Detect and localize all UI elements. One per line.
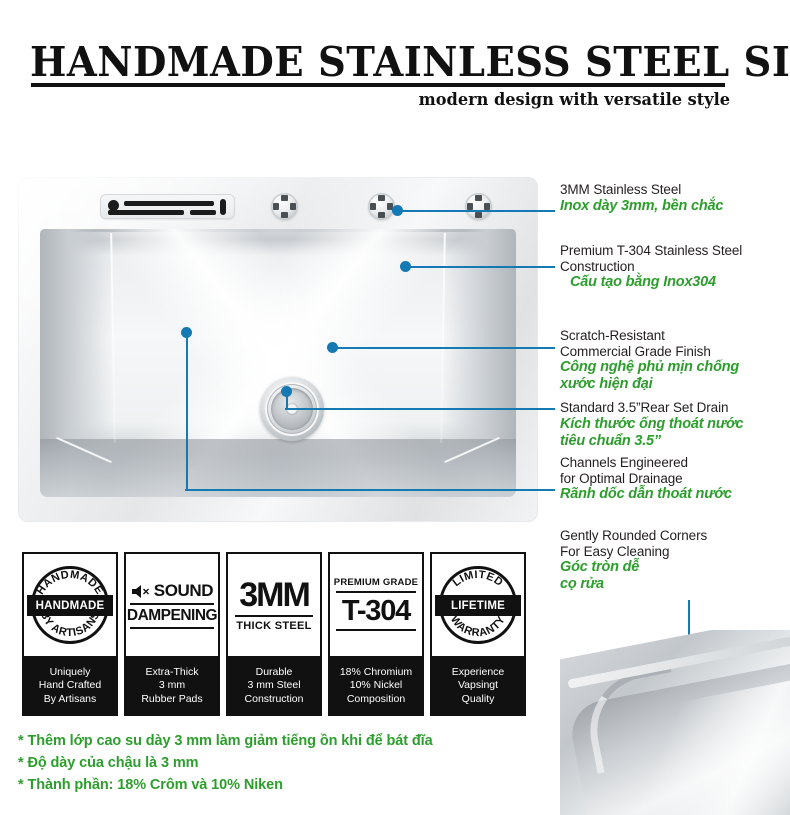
- badge-thickness: 3MM THICK STEEL Durable 3 mm Steel Const…: [226, 552, 322, 716]
- badge-sound-caption: Extra-Thick 3 mm Rubber Pads: [124, 656, 220, 716]
- caption-line: Extra-Thick: [145, 666, 198, 680]
- annotation-corners-en-2: For Easy Cleaning: [560, 544, 790, 560]
- badge-grade-caption: 18% Chromium 10% Nickel Composition: [328, 656, 424, 716]
- caption-line: Rubber Pads: [141, 693, 202, 707]
- badge-grade: PREMIUM GRADE T-304 18% Chromium 10% Nic…: [328, 552, 424, 716]
- annotation-corners-en-1: Gently Rounded Corners: [560, 528, 790, 544]
- annotation-finish-en-1: Scratch-Resistant: [560, 328, 790, 344]
- annotation-finish-vi-1: Công nghệ phủ mịn chống: [560, 359, 790, 376]
- warranty-arc-top-label: LIMITED: [451, 569, 506, 589]
- annotation-channels-en-2: for Optimal Drainage: [560, 471, 790, 487]
- badge-handmade-emblem: HANDMADE BY ARTISANS HANDMADE: [22, 552, 118, 656]
- sound-rule-bottom: [130, 627, 214, 629]
- badge-warranty-caption: Experience Vapsingt Quality: [430, 656, 526, 716]
- warranty-stamp-icon: LIMITED WARRANTY LIFETIME: [434, 561, 522, 649]
- annotation-thickness: 3MM Stainless Steel Inox dày 3mm, bền ch…: [560, 182, 790, 215]
- annotation-material-en-1: Premium T-304 Stainless Steel: [560, 243, 790, 259]
- callout-line-finish-h: [185, 489, 555, 491]
- annotation-corners-vi-2: cọ rửa: [560, 576, 790, 593]
- annotation-drain-en: Standard 3.5”Rear Set Drain: [560, 400, 790, 416]
- annotation-finish-en-2: Commercial Grade Finish: [560, 344, 790, 360]
- sound-word-1: SOUND: [154, 581, 213, 601]
- caption-line: 3 mm Steel: [247, 679, 300, 693]
- note-line-2: * Độ dày của chậu là 3 mm: [18, 752, 538, 774]
- note-line-3: * Thành phần: 18% Crôm và 10% Niken: [18, 774, 538, 796]
- warranty-arc-bottom-label: WARRANTY: [448, 614, 508, 640]
- header: HANDMADE STAINLESS STEEL SINKS modern de…: [0, 0, 790, 130]
- annotation-corners: Gently Rounded Corners For Easy Cleaning…: [560, 528, 790, 593]
- badge-handmade: HANDMADE BY ARTISANS HANDMADE Uniquely H…: [22, 552, 118, 716]
- caption-line: By Artisans: [44, 693, 97, 707]
- sound-rule-top: [130, 603, 214, 605]
- caption-line: 3 mm: [159, 679, 185, 693]
- annotation-channels-vi: Rãnh dốc dẫn thoát nước: [560, 486, 790, 503]
- badge-sound-dampening: SOUND DAMPENING Extra-Thick 3 mm Rubber …: [124, 552, 220, 716]
- caption-line: Durable: [256, 666, 293, 680]
- caption-line: Quality: [462, 693, 495, 707]
- annotation-drain-vi-1: Kích thước ống thoát nước: [560, 416, 790, 433]
- annotation-finish-vi-2: xước hiện đại: [560, 376, 790, 393]
- badge-handmade-caption: Uniquely Hand Crafted By Artisans: [22, 656, 118, 716]
- thickness-rule: [235, 615, 313, 617]
- callout-line-thickness: [400, 210, 555, 212]
- bottom-notes: * Thêm lớp cao su dày 3 mm làm giảm tiến…: [18, 730, 538, 796]
- speaker-mute-icon: [131, 584, 151, 599]
- page-title: HANDMADE STAINLESS STEEL SINKS: [30, 38, 716, 86]
- badge-grade-emblem: PREMIUM GRADE T-304: [328, 552, 424, 656]
- cutout-bar-1: [124, 201, 214, 206]
- badge-sound-emblem: SOUND DAMPENING: [124, 552, 220, 656]
- badge-warranty-emblem: LIMITED WARRANTY LIFETIME: [430, 552, 526, 656]
- faucet-hole-3: [465, 193, 492, 220]
- caption-line: Uniquely: [50, 666, 91, 680]
- grade-rule-bottom: [336, 629, 416, 631]
- callout-line-channels: [335, 347, 555, 349]
- sink-product-photo: [18, 177, 538, 522]
- badge-warranty: LIMITED WARRANTY LIFETIME Experience Vap…: [430, 552, 526, 716]
- annotation-material-vi: Cấu tạo bằng Inox304: [570, 274, 790, 291]
- caption-line: Vapsingt: [458, 679, 498, 693]
- faucet-hole-1: [271, 193, 298, 220]
- callout-line-drain-h: [285, 408, 555, 410]
- annotation-thickness-vi: Inox dày 3mm, bền chắc: [560, 198, 790, 215]
- caption-line: Composition: [347, 693, 405, 707]
- grade-top-label: PREMIUM GRADE: [334, 577, 418, 588]
- annotation-drain: Standard 3.5”Rear Set Drain Kích thước ố…: [560, 400, 790, 450]
- annotation-channels: Channels Engineered for Optimal Drainage…: [560, 455, 790, 503]
- annotation-channels-en-1: Channels Engineered: [560, 455, 790, 471]
- cutout-bar-4: [220, 199, 226, 215]
- title-underline: [31, 83, 725, 87]
- annotation-drain-vi-2: tiêu chuẩn 3.5”: [560, 433, 790, 450]
- caption-line: Experience: [452, 666, 505, 680]
- rounded-corner-closeup-photo: [560, 630, 790, 815]
- annotation-corners-vi-1: Góc tròn dễ: [560, 559, 790, 576]
- thickness-sub-label: THICK STEEL: [236, 620, 311, 632]
- handmade-stamp-icon: HANDMADE BY ARTISANS HANDMADE: [26, 561, 114, 649]
- badge-thickness-emblem: 3MM THICK STEEL: [226, 552, 322, 656]
- badge-thickness-caption: Durable 3 mm Steel Construction: [226, 656, 322, 716]
- note-line-1: * Thêm lớp cao su dày 3 mm làm giảm tiến…: [18, 730, 538, 752]
- caption-line: Hand Crafted: [39, 679, 101, 693]
- annotation-material-en-2: Construction: [560, 259, 790, 275]
- cutout-bar-3: [190, 210, 216, 215]
- cutout-bar-2: [108, 210, 184, 215]
- feature-badge-row: HANDMADE BY ARTISANS HANDMADE Uniquely H…: [22, 552, 526, 716]
- thickness-big-label: 3MM: [239, 578, 309, 612]
- grade-rule-top: [336, 591, 416, 593]
- sink-basin: [40, 229, 516, 497]
- stamp-band-label: HANDMADE: [27, 595, 113, 616]
- caption-line: 18% Chromium: [340, 666, 412, 680]
- annotation-material: Premium T-304 Stainless Steel Constructi…: [560, 243, 790, 291]
- sound-word-2: DAMPENING: [127, 607, 217, 625]
- caption-line: 10% Nickel: [350, 679, 403, 693]
- callout-line-material: [408, 266, 555, 268]
- annotation-finish: Scratch-Resistant Commercial Grade Finis…: [560, 328, 790, 393]
- deck-cutout-detail: [100, 194, 235, 219]
- caption-line: Construction: [245, 693, 304, 707]
- grade-big-label: T-304: [342, 596, 410, 626]
- faucet-hole-2: [368, 193, 395, 220]
- annotation-thickness-en: 3MM Stainless Steel: [560, 182, 790, 198]
- warranty-band-label: LIFETIME: [435, 595, 521, 616]
- page-subtitle: modern design with versatile style: [65, 90, 730, 110]
- callout-line-finish-v: [186, 333, 188, 491]
- stamp-arc-top-label: HANDMADE: [34, 569, 105, 597]
